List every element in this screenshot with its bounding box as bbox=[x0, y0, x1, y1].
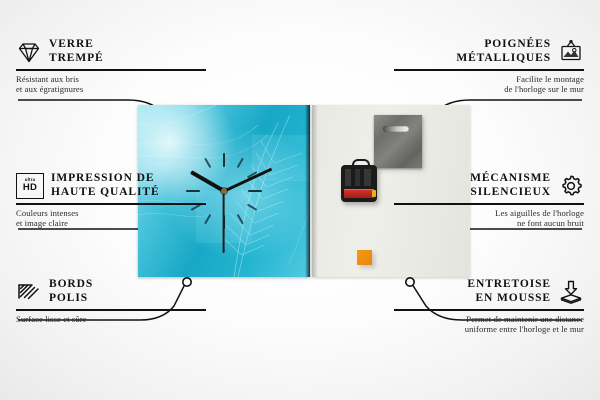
feature-entretoise-en-mousse: ENTRETOISEEN MOUSSE Permet de maintenir … bbox=[394, 278, 584, 335]
foam-spacer-icon bbox=[558, 279, 584, 305]
feature-rule bbox=[16, 309, 206, 311]
mechanism-detail bbox=[345, 169, 373, 186]
second-hand bbox=[223, 191, 225, 253]
feature-title: POIGNÉESMÉTALLIQUES bbox=[456, 38, 551, 65]
feature-title: ENTRETOISEEN MOUSSE bbox=[467, 278, 551, 305]
feature-header: BORDSPOLIS bbox=[16, 278, 206, 305]
feature-rule bbox=[394, 203, 584, 205]
feature-title: MÉCANISMESILENCIEUX bbox=[470, 172, 551, 199]
metal-hanger-plate bbox=[374, 115, 422, 168]
diamond-icon bbox=[16, 39, 42, 65]
feature-subtitle: Facilite le montagede l'horloge sur le m… bbox=[394, 74, 584, 95]
feature-header: VERRETREMPÉ bbox=[16, 38, 206, 65]
badge-hd-label: HD bbox=[23, 183, 37, 193]
feature-subtitle: Les aiguilles de l'horlogene font aucun … bbox=[394, 208, 584, 229]
feature-title: IMPRESSION DEHAUTE QUALITÉ bbox=[51, 172, 160, 199]
clock-mechanism bbox=[341, 165, 377, 202]
feature-subtitle: Surface lisse et sûre bbox=[16, 314, 206, 325]
feature-rule bbox=[394, 309, 584, 311]
feature-header: ENTRETOISEEN MOUSSE bbox=[394, 278, 584, 305]
feature-poignees-metalliques: POIGNÉESMÉTALLIQUES Facilite le montaged… bbox=[394, 38, 584, 95]
foam-spacer bbox=[357, 250, 372, 265]
feature-rule bbox=[16, 69, 206, 71]
hanger-slot bbox=[383, 126, 409, 132]
feature-verre-trempe: VERRETREMPÉ Résistant aux briset aux égr… bbox=[16, 38, 206, 95]
picture-hanger-icon bbox=[558, 39, 584, 65]
feature-header: POIGNÉESMÉTALLIQUES bbox=[394, 38, 584, 65]
feature-impression-haute-qualite: ultra HD IMPRESSION DEHAUTE QUALITÉ Coul… bbox=[16, 172, 206, 229]
feature-header: MÉCANISMESILENCIEUX bbox=[394, 172, 584, 199]
feature-title: BORDSPOLIS bbox=[49, 278, 93, 305]
feature-mecanisme-silencieux: MÉCANISMESILENCIEUX Les aiguilles de l'h… bbox=[394, 172, 584, 229]
ultra-hd-badge-icon: ultra HD bbox=[16, 173, 44, 199]
feature-rule bbox=[16, 203, 206, 205]
feature-title: VERRETREMPÉ bbox=[49, 38, 104, 65]
feature-subtitle: Résistant aux briset aux égratignures bbox=[16, 74, 206, 95]
feature-rule bbox=[394, 69, 584, 71]
polished-edges-icon bbox=[16, 279, 42, 305]
gear-icon bbox=[558, 173, 584, 199]
feature-subtitle: Couleurs intenseset image claire bbox=[16, 208, 206, 229]
feature-subtitle: Permet de maintenir une distanceuniforme… bbox=[394, 314, 584, 335]
infographic-canvas: VERRETREMPÉ Résistant aux briset aux égr… bbox=[0, 0, 600, 400]
feature-bords-polis: BORDSPOLIS Surface lisse et sûre bbox=[16, 278, 206, 324]
feature-header: ultra HD IMPRESSION DEHAUTE QUALITÉ bbox=[16, 172, 206, 199]
clock-center-cap bbox=[221, 188, 227, 194]
battery bbox=[344, 189, 374, 198]
